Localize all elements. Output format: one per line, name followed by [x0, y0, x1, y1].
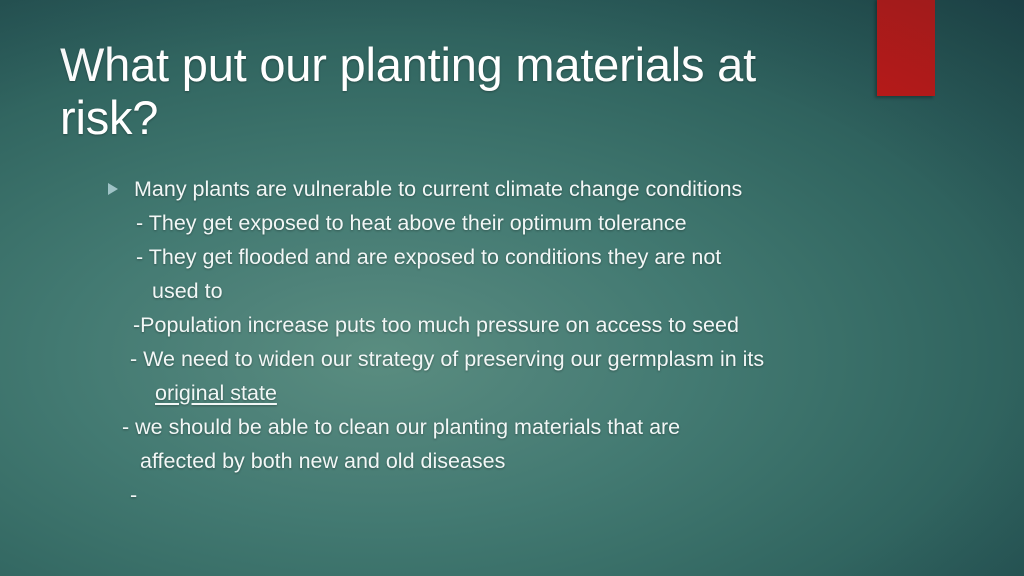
body-line: - They get flooded and are exposed to co…: [0, 240, 1024, 274]
body-line-text: - we should be able to clean our plantin…: [122, 410, 680, 444]
body-line-text: used to: [152, 274, 223, 308]
body-line-text: affected by both new and old diseases: [140, 444, 505, 478]
body-line: - They get exposed to heat above their o…: [0, 206, 1024, 240]
body-line-text: Many plants are vulnerable to current cl…: [134, 172, 742, 206]
triangle-right-bullet-icon: [108, 183, 118, 195]
body-line-text: - They get exposed to heat above their o…: [136, 206, 687, 240]
body-line: affected by both new and old diseases: [0, 444, 1024, 478]
body-line-text: -Population increase puts too much press…: [133, 308, 739, 342]
body-line-text: - We need to widen our strategy of prese…: [130, 342, 764, 376]
body-line: - We need to widen our strategy of prese…: [0, 342, 1024, 376]
body-line: - we should be able to clean our plantin…: [0, 410, 1024, 444]
body-line: original state: [0, 376, 1024, 410]
body-line: -: [0, 478, 1024, 512]
red-accent-bar: [877, 0, 935, 96]
body-line-text: -: [130, 478, 137, 512]
body-line-text: - They get flooded and are exposed to co…: [136, 240, 721, 274]
body-line: Many plants are vulnerable to current cl…: [0, 172, 1024, 206]
body-line-text: original state: [155, 376, 277, 410]
presentation-slide: What put our planting materials at risk?…: [0, 0, 1024, 576]
slide-body-content[interactable]: Many plants are vulnerable to current cl…: [0, 172, 1024, 512]
slide-title[interactable]: What put our planting materials at risk?: [60, 38, 850, 144]
body-line: used to: [0, 274, 1024, 308]
body-line: -Population increase puts too much press…: [0, 308, 1024, 342]
